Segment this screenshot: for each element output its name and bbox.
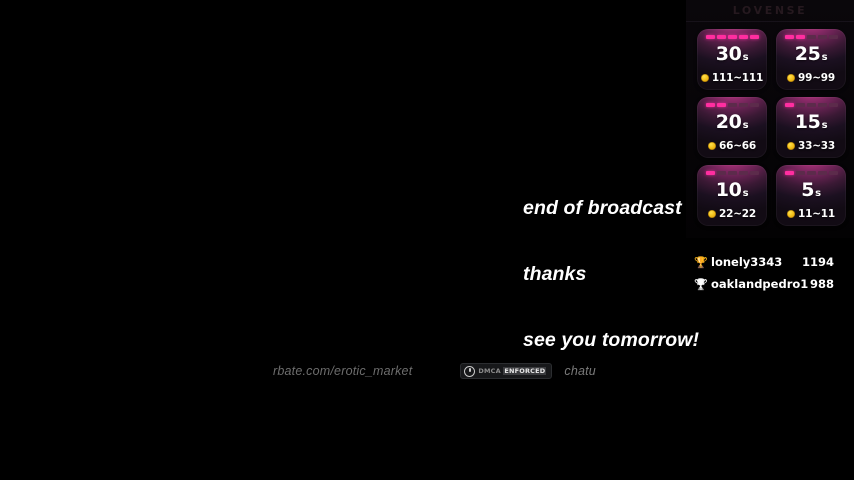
tile-duration-unit: s: [743, 52, 749, 63]
tile-cost: 11~11: [787, 208, 835, 220]
watermark-bar: rbate.com/erotic_market DMCA ENFORCED ch…: [273, 362, 596, 380]
leaderboard-username: lonely3343: [708, 255, 802, 269]
tile-cost-value: 66~66: [719, 140, 756, 152]
tile-duration: 25s: [795, 44, 828, 68]
leaderboard-username: oaklandpedro1: [708, 277, 810, 291]
level-segment: [717, 103, 726, 107]
tile-duration-value: 15: [795, 111, 821, 133]
leaderboard-row: 🏆lonely33431194: [694, 251, 834, 273]
tile-level-bar: [785, 103, 838, 107]
tile-duration-unit: s: [743, 120, 749, 131]
tile-level-bar: [785, 171, 838, 175]
tile-duration: 20s: [716, 112, 749, 136]
level-segment: [785, 171, 794, 175]
lovense-tile[interactable]: 20s66~66: [697, 97, 767, 158]
tile-duration-value: 5: [801, 179, 814, 201]
gold-trophy-icon: 🏆: [694, 257, 708, 268]
dmca-prefix: DMCA: [478, 367, 503, 375]
level-segment: [717, 35, 726, 39]
level-segment: [796, 35, 805, 39]
dmca-enforced-badge: DMCA ENFORCED: [460, 363, 552, 379]
level-segment: [807, 171, 816, 175]
tile-cost-value: 111~111: [712, 72, 763, 84]
dmca-shield-icon: [464, 366, 475, 377]
tile-level-bar: [785, 35, 838, 39]
tile-duration-unit: s: [822, 120, 828, 131]
level-segment: [739, 35, 748, 39]
level-segment: [785, 35, 794, 39]
coin-icon: [708, 142, 716, 150]
site-watermark: rbate.com/erotic_market: [273, 364, 412, 378]
tile-level-bar: [706, 35, 759, 39]
level-segment: [818, 35, 827, 39]
level-segment: [728, 35, 737, 39]
tile-cost-value: 33~33: [798, 140, 835, 152]
level-segment: [829, 35, 838, 39]
tile-duration-value: 20: [716, 111, 742, 133]
level-segment: [750, 171, 759, 175]
level-segment: [739, 103, 748, 107]
tile-cost: 66~66: [708, 140, 756, 152]
tile-level-bar: [706, 103, 759, 107]
level-segment: [818, 171, 827, 175]
dmca-strong: ENFORCED: [503, 367, 546, 375]
lovense-tile[interactable]: 15s33~33: [776, 97, 846, 158]
leaderboard-row: 🏆oaklandpedro1988: [694, 273, 834, 295]
tile-duration: 15s: [795, 112, 828, 136]
leaderboard-score: 1194: [802, 255, 834, 269]
tile-cost: 99~99: [787, 72, 835, 84]
tile-duration-unit: s: [815, 188, 821, 199]
tile-cost: 111~111: [701, 72, 763, 84]
coin-icon: [787, 74, 795, 82]
tile-duration-unit: s: [743, 188, 749, 199]
lovense-tile[interactable]: 30s111~111: [697, 29, 767, 90]
broadcast-line-3: see you tomorrow!: [523, 329, 743, 351]
coin-icon: [787, 210, 795, 218]
broadcast-line-1: end of broadcast: [523, 197, 743, 219]
tile-duration: 30s: [716, 44, 749, 68]
level-segment: [750, 103, 759, 107]
silver-trophy-icon: 🏆: [694, 279, 708, 290]
level-segment: [807, 103, 816, 107]
level-segment: [796, 171, 805, 175]
coin-icon: [787, 142, 795, 150]
tile-cost-value: 11~11: [798, 208, 835, 220]
level-segment: [807, 35, 816, 39]
level-segment: [829, 171, 838, 175]
tile-duration-unit: s: [822, 52, 828, 63]
level-segment: [829, 103, 838, 107]
tile-duration-value: 25: [795, 43, 821, 65]
leaderboard-score: 988: [810, 277, 834, 291]
platform-watermark: chatu: [564, 364, 596, 378]
lovense-tile[interactable]: 5s11~11: [776, 165, 846, 226]
dmca-badge-label: DMCA ENFORCED: [478, 367, 546, 375]
tile-cost-value: 99~99: [798, 72, 835, 84]
tile-duration-value: 30: [716, 43, 742, 65]
video-stage: end of broadcast thanks see you tomorrow…: [0, 0, 854, 480]
level-segment: [818, 103, 827, 107]
lovense-tile[interactable]: 25s99~99: [776, 29, 846, 90]
lovense-brand-logo: LOVENSE: [686, 0, 854, 22]
level-segment: [796, 103, 805, 107]
tipper-leaderboard: 🏆lonely33431194🏆oaklandpedro1988: [694, 251, 834, 295]
level-segment: [750, 35, 759, 39]
coin-icon: [701, 74, 709, 82]
level-segment: [785, 103, 794, 107]
level-segment: [706, 35, 715, 39]
tile-cost: 33~33: [787, 140, 835, 152]
level-segment: [706, 103, 715, 107]
tile-duration: 5s: [801, 180, 821, 204]
level-segment: [728, 103, 737, 107]
